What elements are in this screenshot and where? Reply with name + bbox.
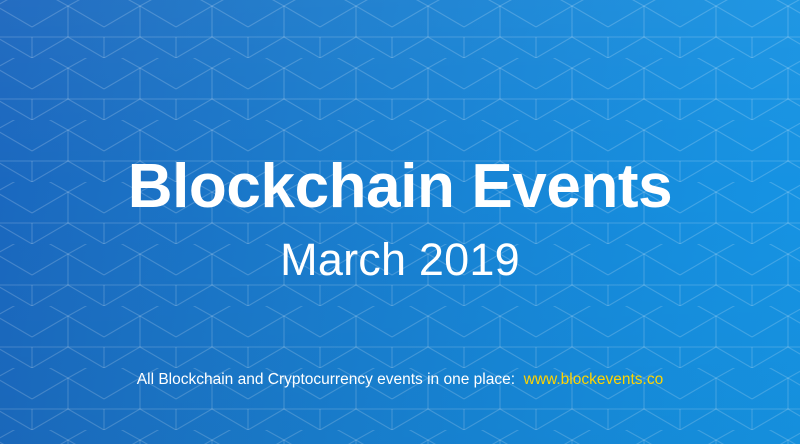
footer-website-link[interactable]: www.blockevents.co [524, 371, 664, 388]
page-title: Blockchain Events [0, 152, 800, 222]
blockchain-events-banner: Blockchain Events March 2019 All Blockch… [0, 0, 800, 444]
title-block: Blockchain Events March 2019 All Blockch… [0, 0, 800, 444]
footer-tagline-row: All Blockchain and Cryptocurrency events… [0, 369, 800, 391]
banner-content: Blockchain Events March 2019 All Blockch… [0, 0, 800, 444]
page-subtitle: March 2019 [0, 233, 800, 287]
footer-tagline: All Blockchain and Cryptocurrency events… [137, 371, 515, 388]
